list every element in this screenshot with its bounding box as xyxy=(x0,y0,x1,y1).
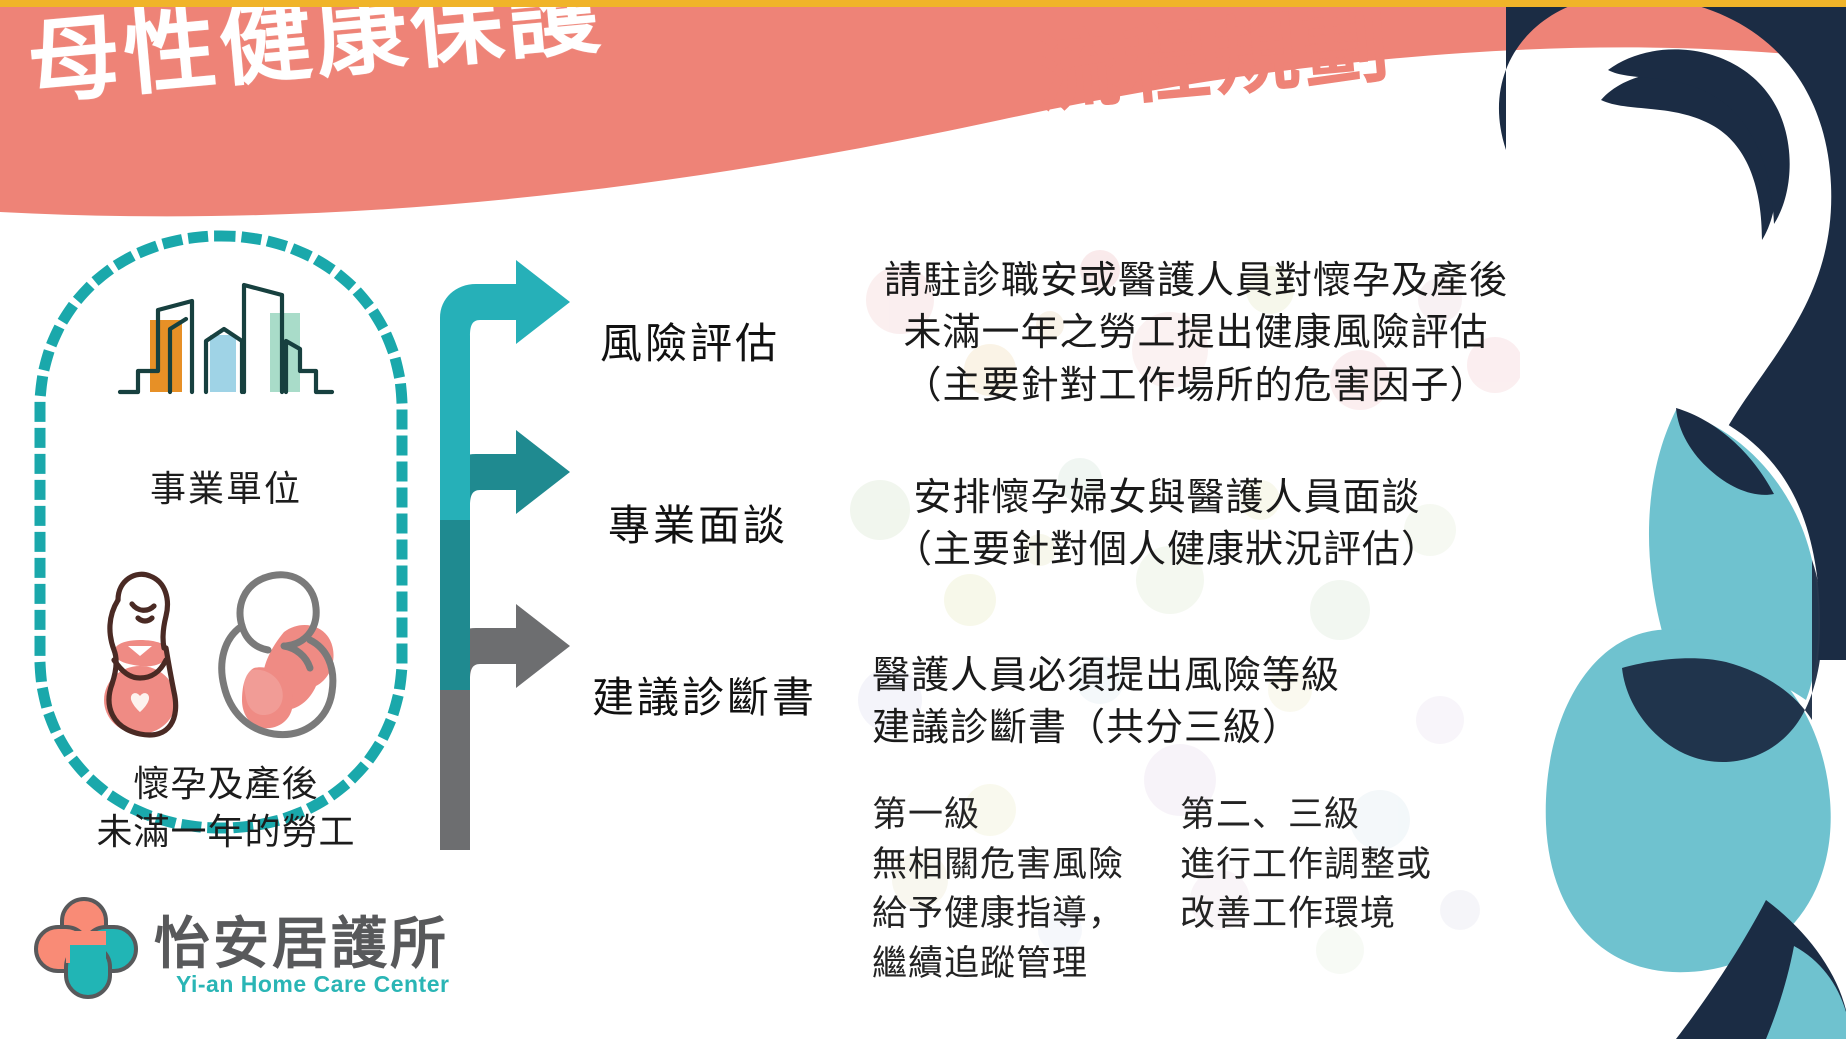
grade-line: 第二、三級 xyxy=(1180,790,1432,840)
desc-line: （主要針對個人健康狀況評估） xyxy=(872,524,1462,576)
desc-line: 安排懷孕婦女與醫護人員面談 xyxy=(872,472,1462,524)
business-unit-label: 事業單位 xyxy=(46,460,406,512)
grade-line: 無相關危害風險 xyxy=(872,840,1124,890)
top-gold-rule xyxy=(0,0,1846,7)
grade-line: 繼續追蹤管理 xyxy=(872,939,1124,989)
desc-line: 醫護人員必須提出風險等級 xyxy=(872,650,1432,702)
brand-name-en: Yi-an Home Care Center xyxy=(176,971,449,998)
step-description-risk-assessment: 請駐診職安或醫護人員對懷孕及產後 未滿一年之勞工提出健康風險評估 （主要針對工作… xyxy=(866,255,1526,412)
worker-label-line-1: 懷孕及產後 xyxy=(133,763,318,804)
poster-canvas: 母性健康保護 流程規劃 xyxy=(0,0,1846,1039)
desc-line: 建議診斷書（共分三級） xyxy=(872,702,1432,754)
step-description-recommendation-certificate: 醫護人員必須提出風險等級 建議診斷書（共分三級） xyxy=(872,650,1432,755)
brand-name-cn: 怡安居護所 xyxy=(154,899,449,980)
grade-line: 改善工作環境 xyxy=(1180,889,1432,939)
flow-arrows-group xyxy=(420,250,620,850)
brand-logo[interactable]: 怡安居護所 Yi-an Home Care Center xyxy=(24,885,474,1015)
step-label-professional-interview: 專業面談 xyxy=(608,492,788,553)
worker-icons-group xyxy=(78,560,368,740)
step-label-recommendation-certificate: 建議診斷書 xyxy=(592,664,817,725)
grade-line: 第一級 xyxy=(872,790,1124,840)
grade-line: 進行工作調整或 xyxy=(1180,840,1432,890)
desc-line: 請駐診職安或醫護人員對懷孕及產後 xyxy=(866,255,1526,307)
step-description-professional-interview: 安排懷孕婦女與醫護人員面談 （主要針對個人健康狀況評估） xyxy=(872,472,1462,577)
pregnant-woman-icon xyxy=(104,574,176,735)
worker-label-line-2: 未滿一年的勞工 xyxy=(96,811,355,852)
desc-line: 未滿一年之勞工提出健康風險評估 xyxy=(866,307,1526,359)
grade-level-two-three-block: 第二、三級 進行工作調整或 改善工作環境 xyxy=(1180,790,1432,939)
step-label-risk-assessment: 風險評估 xyxy=(600,310,780,371)
pinwheel-cross-logo-icon xyxy=(32,893,140,1001)
worker-group-label: 懷孕及產後 未滿一年的勞工 xyxy=(36,760,416,855)
mother-holding-baby-icon xyxy=(222,575,334,735)
desc-line: （主要針對工作場所的危害因子） xyxy=(866,360,1526,412)
office-buildings-icon xyxy=(110,275,340,405)
grade-line: 給予健康指導， xyxy=(872,889,1124,939)
grade-level-one-block: 第一級 無相關危害風險 給予健康指導， 繼續追蹤管理 xyxy=(872,790,1124,989)
